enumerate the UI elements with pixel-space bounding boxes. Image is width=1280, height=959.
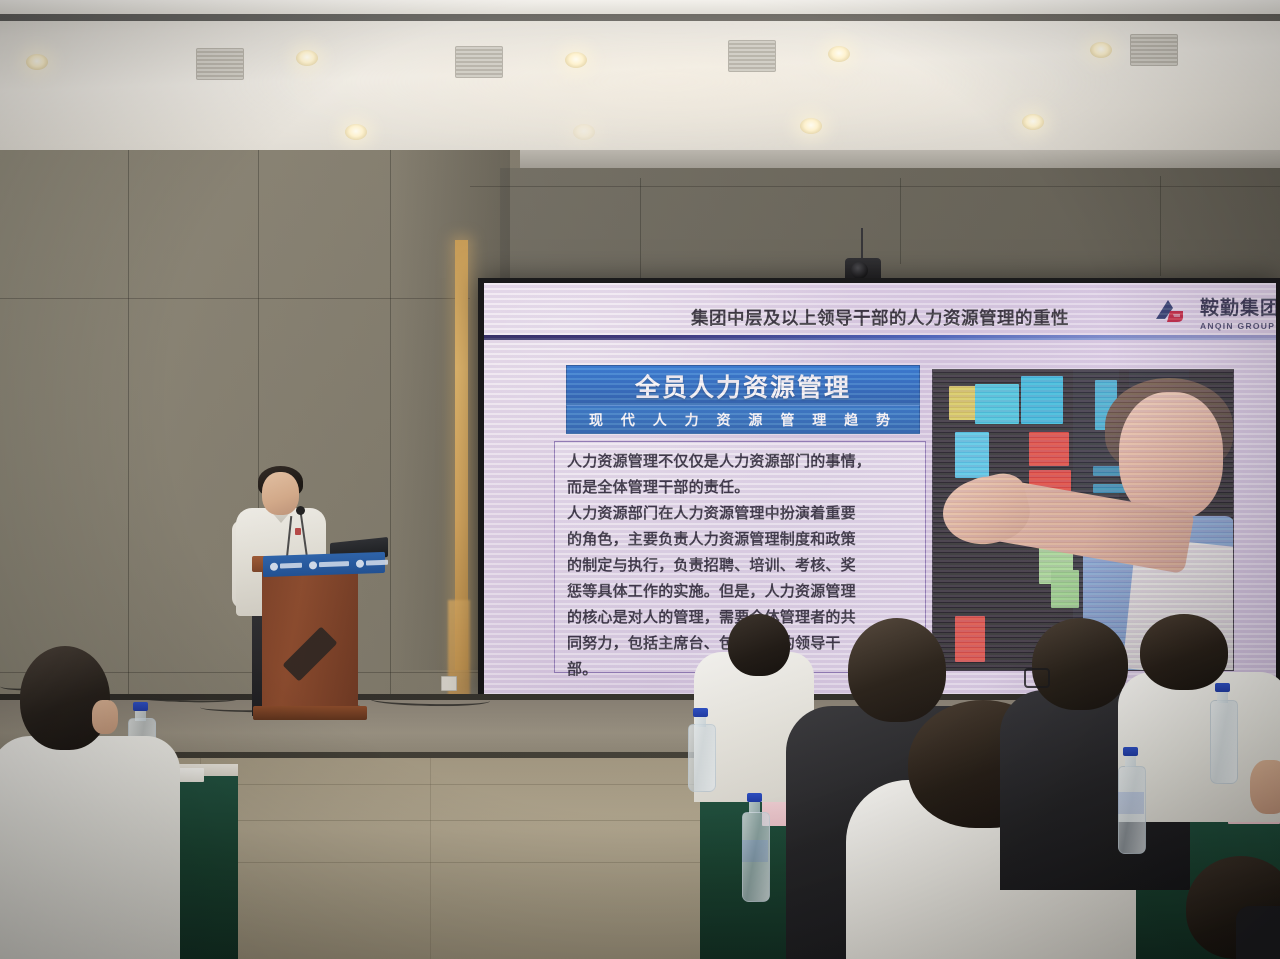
downlight <box>565 52 587 68</box>
slide-body-line: 而是全体管理干部的责任。 <box>567 475 915 501</box>
slide-body-line: 人力资源管理不仅仅是人力资源部门的事情， <box>567 449 915 475</box>
wall-horizontal-seam <box>0 298 470 299</box>
hvac-vent <box>196 48 244 80</box>
water-bottle <box>1210 700 1238 784</box>
stage-light-pole <box>861 228 863 260</box>
podium-sponsor-logo-icon <box>270 561 302 570</box>
water-bottle-label <box>1118 792 1144 814</box>
brand-name-cn: 鞍勤集团 <box>1200 293 1276 320</box>
floor-plank <box>430 758 431 959</box>
podium-logo-bar <box>280 563 302 569</box>
podium-logo-bar <box>366 560 388 566</box>
brand-name-en: ANQIN GROUP <box>1200 321 1276 331</box>
audience-person-head <box>848 618 946 722</box>
podium-sponsor-logo-icon <box>356 558 388 567</box>
audience-person-ear <box>92 700 118 734</box>
podium-logo-bar <box>319 561 349 567</box>
slide-header-text: 集团中层及以上领导干部的人力资源管理的重性 <box>691 308 1069 328</box>
slide-body-line: 的角色，主要负责人力资源管理制度和政策 <box>567 527 915 553</box>
water-bottle-cap <box>747 793 762 802</box>
conference-photo: 集团中层及以上领导干部的人力资源管理的重性 全员人力资源管理 现 代 人 力 资… <box>0 0 1280 959</box>
wall-seam <box>1160 176 1161 276</box>
speaker-badge <box>295 528 301 535</box>
audience-person-head <box>20 646 110 750</box>
wall-socket <box>441 676 457 691</box>
downlight <box>26 54 48 70</box>
slide-title-banner: 全员人力资源管理 <box>566 365 920 407</box>
podium-banner <box>263 552 385 577</box>
downlight <box>800 118 822 134</box>
wall-seam <box>390 150 391 695</box>
eyeglasses-icon <box>1024 668 1050 688</box>
audience-person-head <box>1140 614 1228 690</box>
slide-body-line: 人力资源部门在人力资源管理中扮演着重要 <box>567 501 915 527</box>
hvac-vent <box>455 46 503 78</box>
podium-base <box>253 706 367 720</box>
wall-seam <box>640 178 641 278</box>
ceiling-glow <box>220 30 1120 160</box>
audience-person-head <box>728 614 790 676</box>
downlight <box>296 50 318 66</box>
downlight <box>1022 114 1044 130</box>
hvac-vent <box>1130 34 1178 66</box>
brand-logo: 鞍勤集团 ANQIN GROUP <box>1153 293 1276 331</box>
slide-subtitle-text: 现 代 人 力 资 源 管 理 趋 势 <box>589 410 897 430</box>
ceiling <box>0 0 1280 158</box>
downlight <box>828 46 850 62</box>
slide-title-text: 全员人力资源管理 <box>635 368 851 404</box>
stage-light-lens-icon <box>851 262 868 279</box>
podium-logo-dot-icon <box>309 561 317 569</box>
water-bottle <box>688 724 716 792</box>
podium-logo-dot-icon <box>356 559 364 567</box>
slide-body-line: 的制定与执行，负责招聘、培训、考核、奖 <box>567 553 915 579</box>
podium-logo-dot-icon <box>270 562 278 570</box>
wall-seam <box>900 178 901 264</box>
water-bottle-cap <box>1123 747 1138 756</box>
ceiling-shadow-edge <box>0 14 1280 21</box>
water-bottle-cap <box>1215 683 1230 692</box>
microphone-icon <box>296 506 305 515</box>
wall-seam <box>128 150 129 695</box>
water-bottle-cap <box>133 702 148 711</box>
wall-horizontal-seam <box>470 186 1280 187</box>
audience-person-head <box>1250 760 1280 814</box>
downlight <box>573 124 595 140</box>
water-bottle-cap <box>693 708 708 717</box>
speaker-head <box>262 472 299 515</box>
hvac-vent <box>728 40 776 72</box>
audience-person-head <box>1032 618 1128 710</box>
anqin-logo-icon <box>1153 297 1193 327</box>
audience-person-body <box>0 736 180 959</box>
podium-sponsor-logo-icon <box>309 560 349 569</box>
downlight <box>345 124 367 140</box>
downlight <box>1090 42 1112 58</box>
slide-subtitle-banner: 现 代 人 力 资 源 管 理 趋 势 <box>566 405 920 434</box>
slide-body-line: 惩等具体工作的实施。但是，人力资源管理 <box>567 579 915 605</box>
slide-header-rule <box>484 335 1276 340</box>
water-bottle-label <box>742 840 768 862</box>
audience-person-body <box>1236 906 1280 959</box>
